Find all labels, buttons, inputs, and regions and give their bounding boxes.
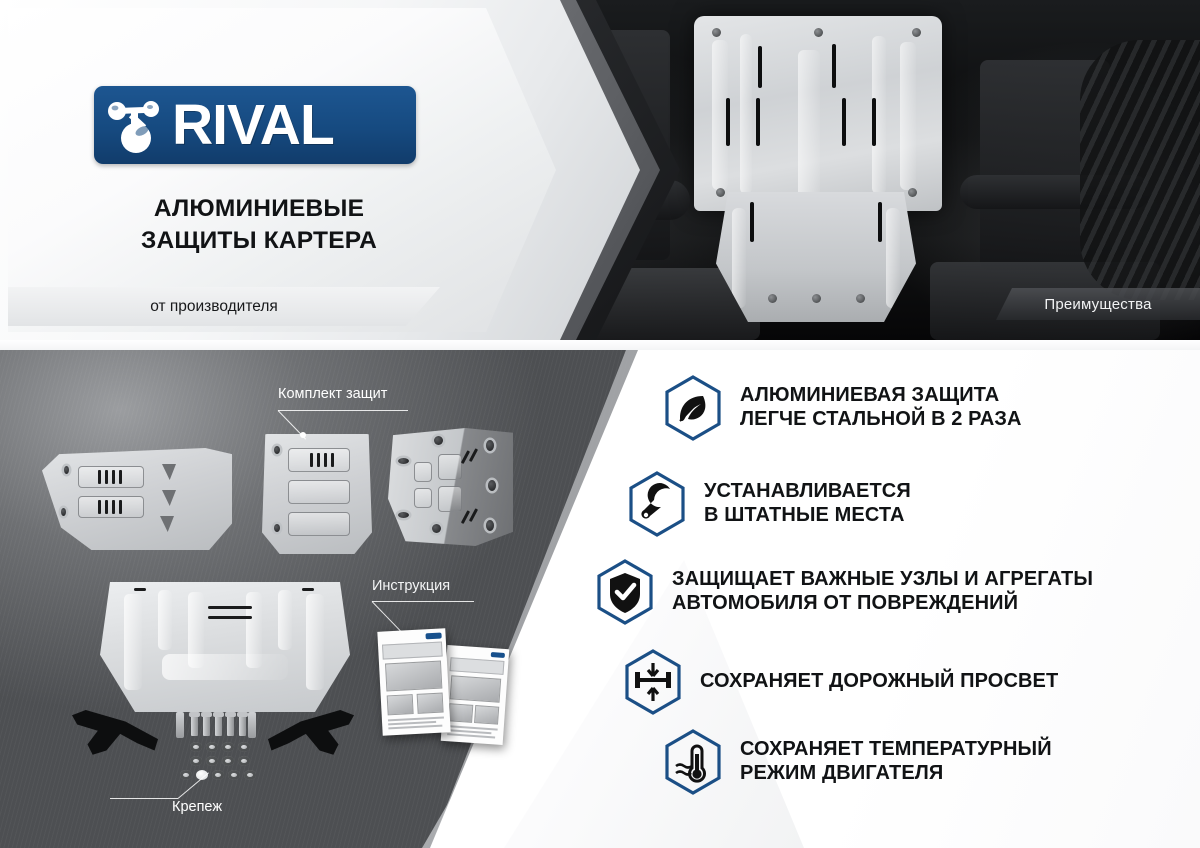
feature-item-4: СОХРАНЯЕТ ДОРОЖНЫЙ ПРОСВЕТ — [622, 648, 1058, 716]
feature-label-2: УСТАНАВЛИВАЕТСЯ В ШТАТНЫЕ МЕСТА — [704, 480, 911, 527]
leaf-icon — [662, 374, 724, 442]
hero-subtitle: от производителя — [8, 287, 420, 326]
feature-item-3: ЗАЩИЩАЕТ ВАЖНЫЕ УЗЛЫ И АГРЕГАТЫ АВТОМОБИ… — [594, 558, 1093, 626]
feature-item-1: АЛЮМИНИЕВАЯ ЗАЩИТА ЛЕГЧЕ СТАЛЬНОЙ В 2 РА… — [662, 374, 1022, 442]
callout-plate-set-underline — [278, 410, 408, 411]
feature-label-3: ЗАЩИЩАЕТ ВАЖНЫЕ УЗЛЫ И АГРЕГАТЫ АВТОМОБИ… — [672, 568, 1093, 615]
callout-fasteners-underline — [110, 798, 178, 799]
hero-card — [8, 8, 556, 332]
wrench-icon — [626, 470, 688, 538]
rival-skid-plate-banner: RIVAL АЛЮМИНИЕВЫЕ ЗАЩИТЫ КАРТЕРА от прои… — [0, 0, 1200, 848]
page-title-line1: АЛЮМИНИЕВЫЕ — [94, 193, 424, 225]
instruction-sheet-front — [377, 628, 450, 735]
main-skid-plate — [100, 582, 350, 712]
page-title-line2: ЗАЩИТЫ КАРТЕРА — [94, 225, 424, 257]
shield-check-icon — [594, 558, 656, 626]
advantages-tab-label: Преимущества — [1044, 296, 1151, 313]
top-section: RIVAL АЛЮМИНИЕВЫЕ ЗАЩИТЫ КАРТЕРА от прои… — [0, 0, 1200, 340]
section-divider — [0, 340, 1200, 350]
page-title: АЛЮМИНИЕВЫЕ ЗАЩИТЫ КАРТЕРА — [94, 193, 424, 258]
feature-label-4: СОХРАНЯЕТ ДОРОЖНЫЙ ПРОСВЕТ — [700, 670, 1058, 694]
callout-instruction: Инструкция — [372, 578, 450, 594]
molecule-icon — [104, 95, 170, 155]
skid-plate-middle — [262, 434, 372, 554]
ground-clearance-icon — [622, 648, 684, 716]
callout-plate-set: Комплект защит — [278, 386, 387, 402]
callout-plate-set-dot — [300, 432, 306, 438]
advantages-list: АЛЮМИНИЕВАЯ ЗАЩИТА ЛЕГЧЕ СТАЛЬНОЙ В 2 РА… — [600, 360, 1200, 830]
brand-logo[interactable]: RIVAL — [94, 86, 416, 164]
feature-item-2: УСТАНАВЛИВАЕТСЯ В ШТАТНЫЕ МЕСТА — [626, 470, 911, 538]
skid-plate-right — [388, 428, 513, 546]
instruction-sheet-back — [441, 645, 510, 745]
advantages-tab[interactable]: Преимущества — [996, 288, 1200, 320]
feature-item-5: СОХРАНЯЕТ ТЕМПЕРАТУРНЫЙ РЕЖИМ ДВИГАТЕЛЯ — [662, 728, 1052, 796]
skid-plate-photo — [666, 10, 966, 330]
callout-plate-set-label: Комплект защит — [278, 386, 387, 402]
callout-fasteners: Крепеж — [172, 799, 222, 815]
brand-name: RIVAL — [172, 97, 334, 154]
feature-label-1: АЛЮМИНИЕВАЯ ЗАЩИТА ЛЕГЧЕ СТАЛЬНОЙ В 2 РА… — [740, 384, 1022, 431]
tyre-tread — [1080, 40, 1200, 300]
thermometer-icon — [662, 728, 724, 796]
feature-label-5: СОХРАНЯЕТ ТЕМПЕРАТУРНЫЙ РЕЖИМ ДВИГАТЕЛЯ — [740, 738, 1052, 785]
callout-instruction-label: Инструкция — [372, 578, 450, 594]
callout-instruction-underline — [372, 601, 474, 602]
callout-fasteners-label: Крепеж — [172, 799, 222, 815]
